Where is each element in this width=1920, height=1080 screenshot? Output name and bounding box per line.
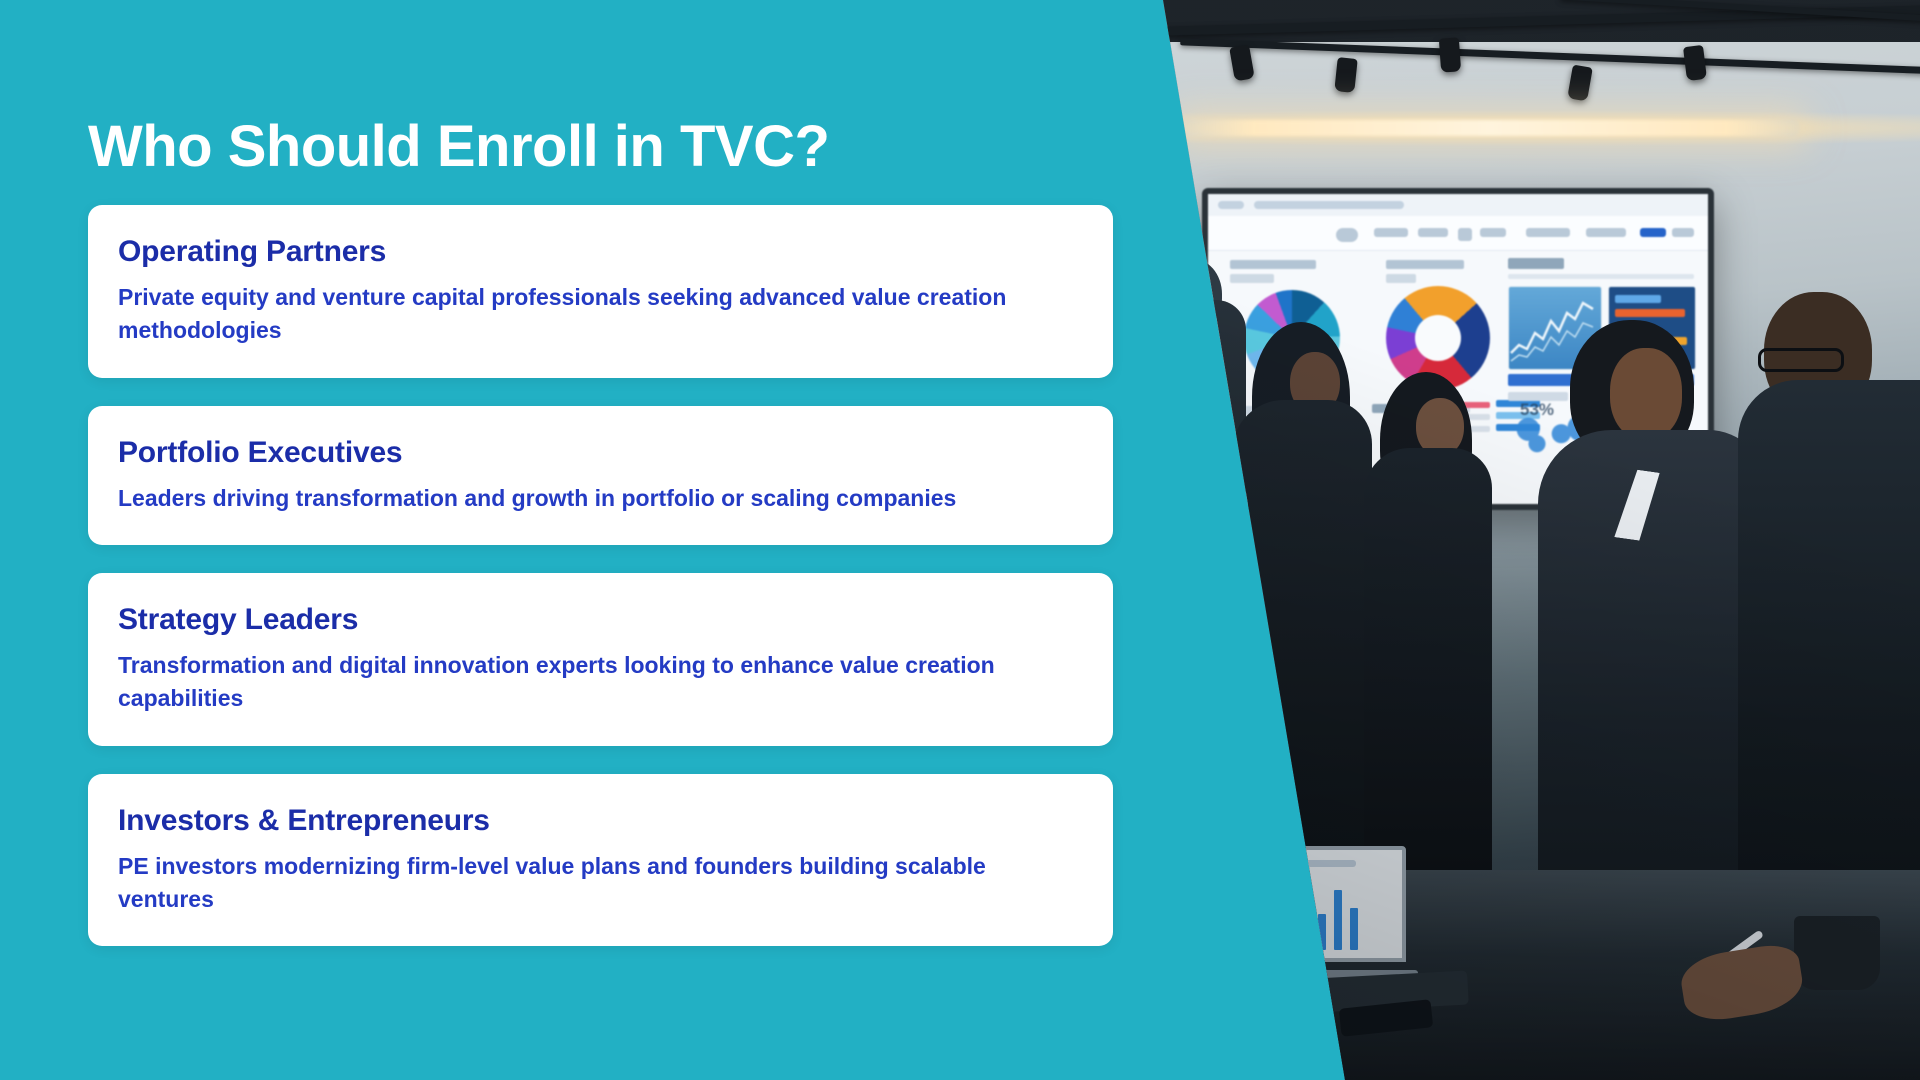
spotlight-icon xyxy=(1567,65,1593,102)
card-description: PE investors modernizing firm-level valu… xyxy=(118,850,1079,917)
slide-root: 53% 65% xyxy=(0,0,1920,1080)
page-title: Who Should Enroll in TVC? xyxy=(88,117,829,178)
audience-card-strategy-leaders[interactable]: Strategy Leaders Transformation and digi… xyxy=(88,573,1113,746)
ceiling-rail xyxy=(1180,38,1920,76)
content-column: Who Should Enroll in TVC? Operating Part… xyxy=(0,0,1160,1080)
spotlight-icon xyxy=(1439,37,1461,72)
card-title: Strategy Leaders xyxy=(118,603,1079,637)
audience-card-list: Operating Partners Private equity and ve… xyxy=(88,205,1113,974)
spotlight-icon xyxy=(1683,45,1707,81)
audience-card-portfolio-executives[interactable]: Portfolio Executives Leaders driving tra… xyxy=(88,406,1113,545)
ceiling-light-strip xyxy=(1180,120,1800,136)
card-title: Operating Partners xyxy=(118,235,1079,269)
card-title: Portfolio Executives xyxy=(118,436,1079,470)
audience-card-operating-partners[interactable]: Operating Partners Private equity and ve… xyxy=(88,205,1113,378)
spotlight-icon xyxy=(1229,45,1255,82)
card-title: Investors & Entrepreneurs xyxy=(118,804,1079,838)
spotlight-icon xyxy=(1334,57,1357,93)
audience-card-investors-entrepreneurs[interactable]: Investors & Entrepreneurs PE investors m… xyxy=(88,774,1113,947)
person-face xyxy=(1610,348,1682,440)
coffee-mug xyxy=(1794,916,1880,990)
card-description: Leaders driving transformation and growt… xyxy=(118,482,1079,515)
card-description: Private equity and venture capital profe… xyxy=(118,281,1079,348)
dashboard-titlebar xyxy=(1208,194,1708,217)
card-description: Transformation and digital innovation ex… xyxy=(118,649,1079,716)
dashboard-toolbar xyxy=(1208,216,1708,251)
glasses-icon xyxy=(1758,348,1844,372)
